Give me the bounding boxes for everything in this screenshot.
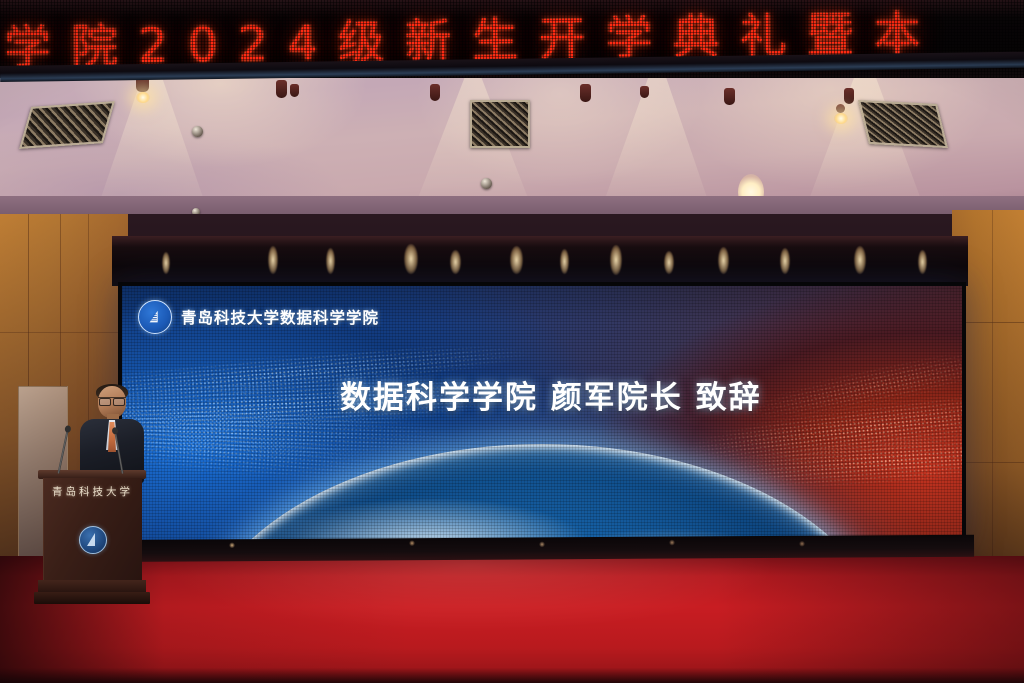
light-reflection	[560, 249, 569, 274]
university-crest-icon	[79, 526, 107, 554]
speaking-podium: 青岛科技大学	[38, 470, 146, 618]
light-reflection	[780, 248, 790, 274]
ceiling-sensor-icon	[481, 178, 492, 189]
carpet-lighting	[0, 556, 1024, 683]
podium-front-panel: 青岛科技大学	[43, 478, 142, 582]
light-reflection	[664, 251, 674, 274]
light-reflection	[610, 245, 622, 275]
screen-logo-lockup: 青岛科技大学数据科学学院	[138, 300, 379, 334]
spotlight-icon	[724, 88, 735, 105]
air-vent-icon	[858, 100, 948, 148]
light-reflection	[162, 252, 170, 274]
spotlight-icon	[836, 104, 845, 113]
air-vent-icon	[19, 101, 115, 149]
podium-plinth	[34, 592, 150, 604]
presenter-at-podium	[76, 386, 148, 482]
spotlight-icon	[844, 88, 854, 104]
led-video-wall[interactable]: 青岛科技大学数据科学学院 数据科学学院 颜军院长 致辞	[118, 282, 966, 550]
air-vent-icon	[470, 100, 530, 148]
gloss-reflection-strip	[112, 236, 968, 286]
light-reflection	[510, 246, 523, 274]
light-reflection	[450, 250, 461, 274]
screen-logo-text: 青岛科技大学数据科学学院	[181, 306, 379, 328]
podium-university-name: 青岛科技大学	[52, 484, 133, 499]
light-reflection	[854, 246, 866, 274]
eyeglasses-icon	[98, 397, 126, 404]
light-reflection	[918, 250, 927, 274]
light-reflection	[718, 247, 729, 274]
light-reflection	[268, 246, 278, 274]
screen-headline: 数据科学学院 颜军院长 致辞	[340, 372, 762, 417]
spotlight-icon	[290, 84, 299, 97]
crest-glyph	[80, 527, 106, 553]
led-screen-content: 青岛科技大学数据科学学院 数据科学学院 颜军院长 致辞	[122, 286, 962, 544]
light-reflection	[404, 244, 418, 274]
ceiling-sensor-icon	[192, 126, 203, 137]
spotlight-icon	[580, 84, 591, 102]
stage-scene: 青岛科技大学数据科学学院 数据科学学院 颜军院长 致辞 青岛科技大学	[0, 0, 1024, 683]
spotlight-icon	[640, 86, 649, 98]
red-carpet-floor	[0, 556, 1024, 683]
sail-emblem-icon	[138, 300, 172, 334]
spotlight-icon	[276, 80, 287, 98]
spotlight-icon	[430, 84, 440, 101]
light-reflection	[326, 248, 335, 274]
sail-emblem-glyph	[146, 308, 164, 326]
